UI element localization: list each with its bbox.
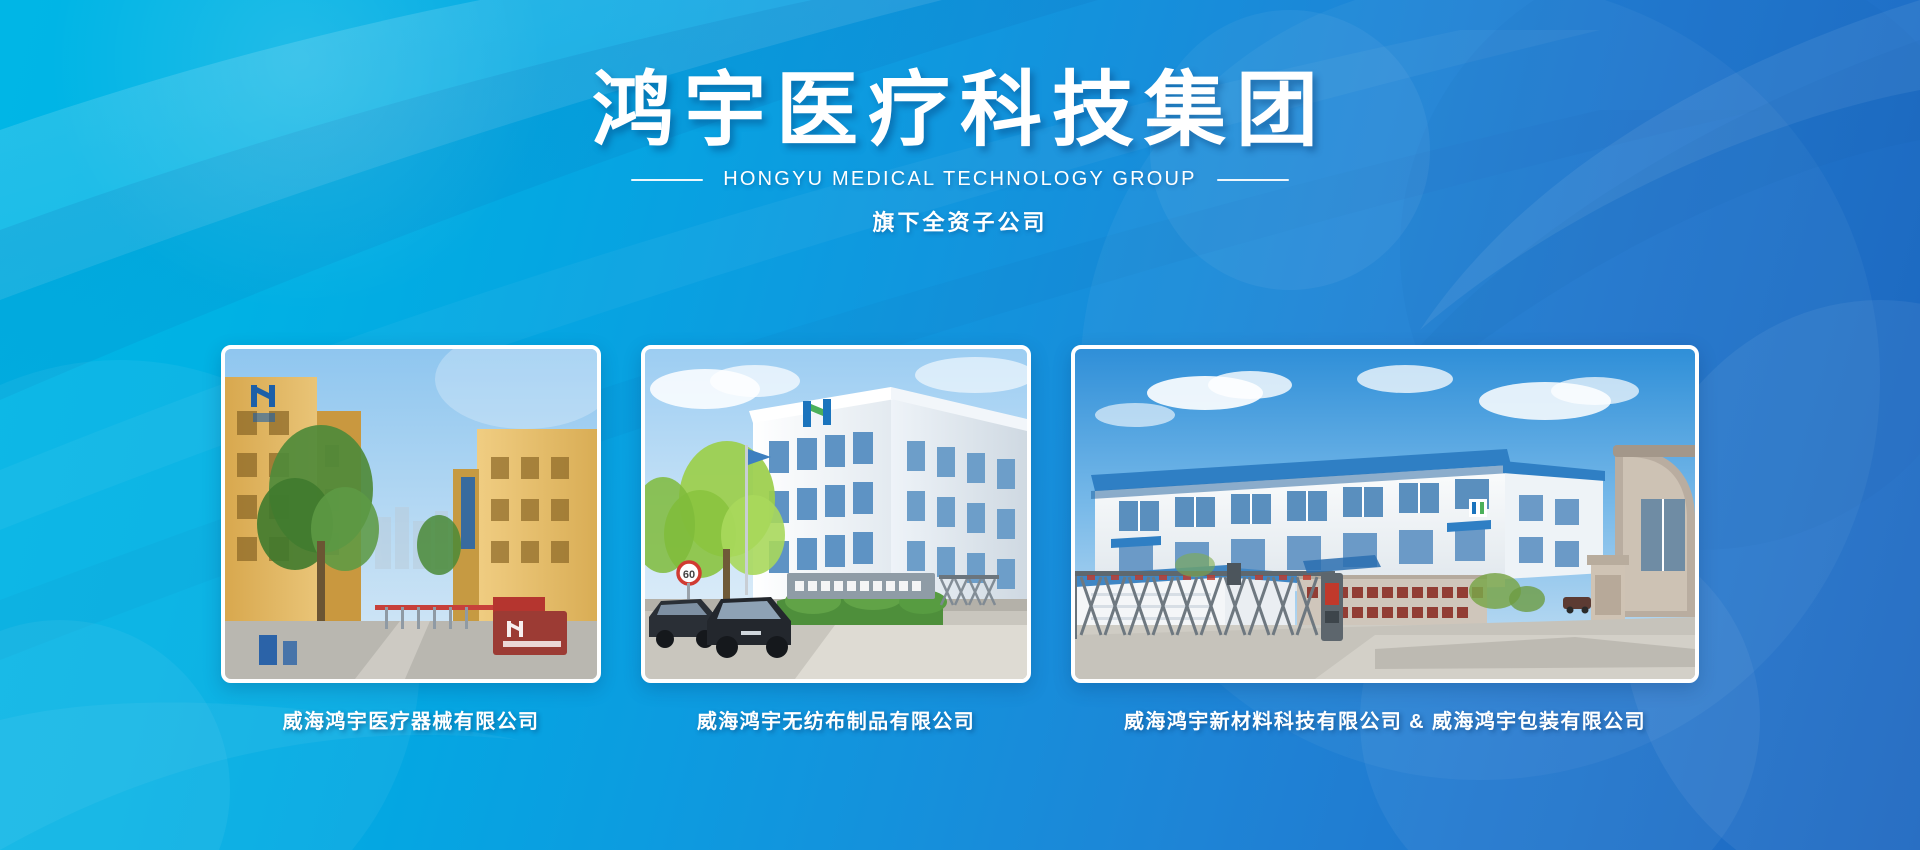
english-subtitle-row: HONGYU MEDICAL TECHNOLOGY GROUP (0, 168, 1920, 191)
english-subtitle: HONGYU MEDICAL TECHNOLOGY GROUP (723, 168, 1196, 191)
subsidiary-card-list: 威海鸿宇医疗器械有限公司 (0, 345, 1920, 734)
rule-left-icon (631, 179, 703, 181)
card-caption-1: 威海鸿宇医疗器械有限公司 (283, 705, 540, 734)
card-caption-3: 威海鸿宇新材料科技有限公司 & 威海鸿宇包装有限公司 (1124, 705, 1646, 734)
svg-text:60: 60 (683, 569, 695, 581)
page-title: 鸿宇医疗科技集团 (0, 68, 1920, 154)
facility-photo-1 (221, 345, 601, 683)
rule-right-icon (1217, 179, 1289, 181)
card-caption-2: 威海鸿宇无纺布制品有限公司 (697, 705, 975, 734)
facility-photo-3 (1071, 345, 1699, 683)
subsidiary-card-1[interactable]: 威海鸿宇医疗器械有限公司 (221, 345, 601, 734)
company-group-banner: 鸿宇医疗科技集团 HONGYU MEDICAL TECHNOLOGY GROUP… (0, 0, 1920, 850)
facility-photo-2: 60 (641, 345, 1031, 683)
subsidiary-card-3[interactable]: 威海鸿宇新材料科技有限公司 & 威海鸿宇包装有限公司 (1071, 345, 1699, 734)
medical-device-factory-photo (225, 349, 597, 679)
chinese-subtitle: 旗下全资子公司 (0, 205, 1920, 237)
wall-logo (1469, 499, 1487, 517)
new-materials-factory-photo (1075, 349, 1695, 679)
nonwoven-factory-photo: 60 (645, 349, 1027, 679)
subsidiary-card-2[interactable]: 60 (641, 345, 1031, 734)
